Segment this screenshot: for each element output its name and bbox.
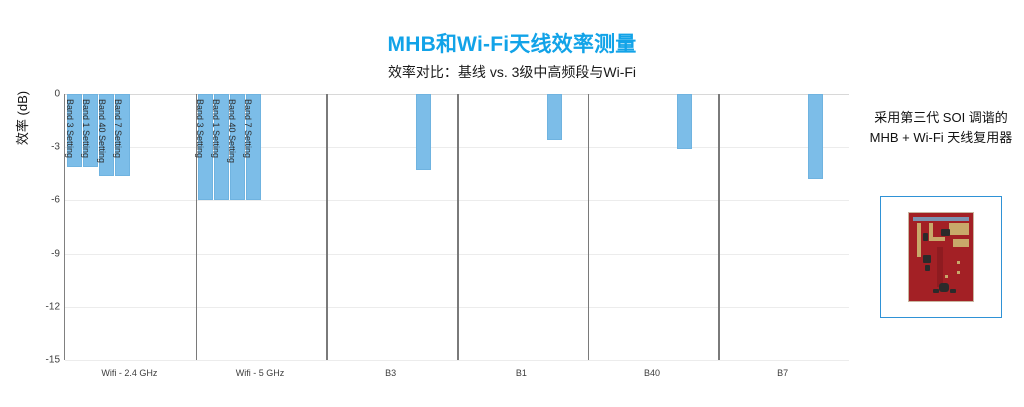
y-axis-tick: -9 (14, 248, 60, 259)
x-axis-labels: Wifi - 2.4 GHzWifi - 5 GHzB3B1B40B7 (64, 368, 848, 388)
bar-label: Band 40 Setting (97, 99, 107, 163)
group-separator (718, 94, 720, 360)
y-axis-ticks: 0-3-6-9-12-15 (0, 94, 60, 360)
x-axis-label: Wifi - 2.4 GHz (101, 368, 157, 378)
chart-bar: Band 7 Setting (115, 94, 130, 176)
x-axis-label: B1 (516, 368, 527, 378)
chart-bar: Band 40 Setting (99, 94, 114, 176)
y-axis-tick: -15 (14, 355, 60, 366)
group-separator (457, 94, 459, 360)
bar-label: Band 7 Setting (113, 99, 123, 158)
panel-caption: 采用第三代 SOI 调谐的 MHB + Wi-Fi 天线复用器 (858, 108, 1024, 148)
y-axis-tick: -6 (14, 195, 60, 206)
pcb-photo (908, 212, 974, 302)
x-axis-label: B40 (644, 368, 660, 378)
y-axis-tick: -3 (14, 142, 60, 153)
bar-label: Band 3 Setting (65, 99, 75, 158)
bar-label: Band 40 Setting (227, 99, 237, 163)
bar-label: Band 3 Setting (195, 99, 205, 158)
chart-bar: Band 3 Setting (67, 94, 82, 167)
bar-label: Band 1 Setting (81, 99, 91, 158)
pcb-photo-frame (880, 196, 1002, 318)
bar-label: Band 1 Setting (211, 99, 221, 158)
plot-area: Band 3 SettingBand 1 SettingBand 40 Sett… (64, 94, 848, 360)
chart-bar (547, 94, 562, 140)
efficiency-bar-chart: 效率 (dB) 0-3-6-9-12-15 Band 3 SettingBand… (0, 0, 858, 407)
gridline (65, 360, 849, 361)
chart-bar (808, 94, 823, 179)
group-separator (588, 94, 590, 360)
y-axis-tick: -12 (14, 301, 60, 312)
chart-bar (416, 94, 431, 170)
bar-label: Band 7 Setting (243, 99, 253, 158)
x-axis-label: B3 (385, 368, 396, 378)
chart-bar (677, 94, 692, 149)
chart-bar: Band 1 Setting (83, 94, 98, 167)
x-axis-label: B7 (777, 368, 788, 378)
side-panel: 采用第三代 SOI 调谐的 MHB + Wi-Fi 天线复用器 (858, 0, 1024, 407)
y-axis-tick: 0 (14, 89, 60, 100)
group-separator (326, 94, 328, 360)
x-axis-label: Wifi - 5 GHz (236, 368, 285, 378)
chart-bar: Band 7 Setting (246, 94, 261, 200)
